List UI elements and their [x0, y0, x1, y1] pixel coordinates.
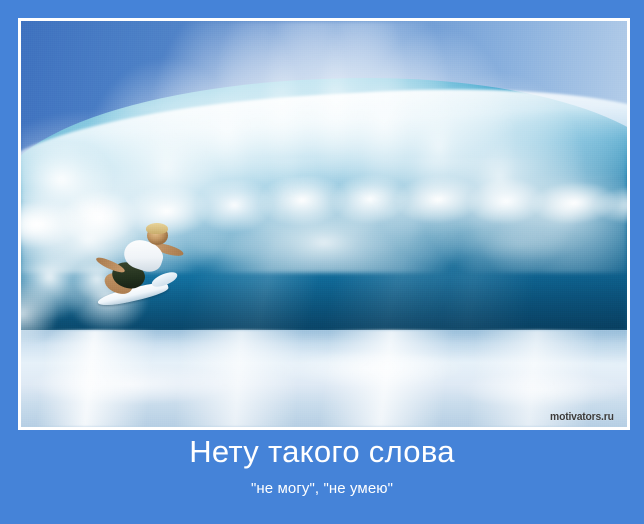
- surfer-hair: [146, 223, 168, 235]
- wave-photo: motivators.ru: [21, 21, 627, 427]
- watermark-motivators-ru: motivators.ru: [550, 411, 614, 423]
- motivational-poster: motivators.ru Нету такого слова "не могу…: [0, 0, 644, 524]
- caption-block: Нету такого слова "не могу", "не умею": [0, 432, 644, 500]
- surfer-figure: [91, 216, 188, 313]
- caption-title: Нету такого слова: [0, 432, 644, 472]
- photo-frame: motivators.ru: [18, 18, 630, 430]
- caption-subtitle: "не могу", "не умею": [0, 478, 644, 500]
